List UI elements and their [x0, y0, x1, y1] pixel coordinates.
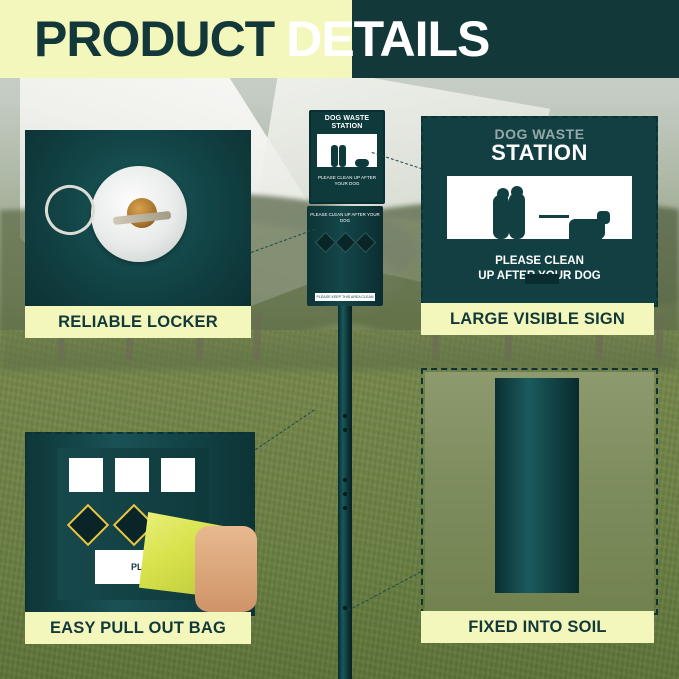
center-post: [338, 306, 352, 679]
dispenser-slot-icon: [334, 232, 355, 253]
large-sign-mount: [525, 274, 559, 284]
caption-reliable-locker: RELIABLE LOCKER: [25, 306, 251, 338]
dispenser-slot-icon: [314, 232, 335, 253]
post-in-soil: [495, 378, 579, 593]
caption-easy-pull-out-bag: EASY PULL OUT BAG: [25, 612, 251, 644]
large-sign-title-line1: DOG WASTE: [433, 126, 646, 142]
product-details-image: DOG WASTE STATION PLEASE CLEAN UP AFTER …: [0, 0, 679, 679]
center-dispenser-box: PLEASE CLEAN UP AFTER YOUR DOG PLEASE KE…: [307, 206, 383, 306]
dispenser-slot-icon: [354, 232, 375, 253]
large-sign-title-line2: STATION: [433, 140, 646, 166]
header-title-word-2: DETAILS: [286, 10, 489, 68]
dog-waste-station-product: DOG WASTE STATION PLEASE CLEAN UP AFTER …: [305, 110, 385, 679]
callout-panel-sign: DOG WASTE STATION PLEASE CLEAN UP AFTER …: [421, 116, 658, 307]
large-sign-graphic: [447, 176, 632, 248]
center-sign-subtitle: PLEASE CLEAN UP AFTER YOUR DOG: [311, 175, 383, 187]
hand: [195, 526, 257, 612]
instruction-icon-2: [115, 458, 149, 492]
instruction-icon-3: [161, 458, 195, 492]
dispenser-slot-icon: [67, 504, 109, 546]
caption-large-visible-sign: LARGE VISIBLE SIGN: [421, 303, 654, 335]
callout-panel-bag: PLEASE: [25, 432, 255, 616]
header-band: PRODUCT DETAILS: [0, 0, 679, 78]
center-sign-title: DOG WASTE STATION: [311, 115, 383, 131]
instruction-icon-1: [69, 458, 103, 492]
header-title: PRODUCT DETAILS: [0, 0, 679, 78]
callout-panel-soil: [421, 368, 658, 615]
caption-fixed-into-soil: FIXED INTO SOIL: [421, 611, 654, 643]
center-box-dispenser-slots: [307, 235, 383, 250]
center-top-sign: DOG WASTE STATION PLEASE CLEAN UP AFTER …: [309, 110, 385, 204]
center-box-label: PLEASE CLEAN UP AFTER YOUR DOG: [307, 212, 383, 223]
header-title-word-1: PRODUCT: [34, 10, 274, 68]
key-ring-icon: [38, 178, 101, 241]
callout-panel-locker: [25, 130, 251, 306]
center-sign-graphic: [317, 134, 377, 172]
large-sign: DOG WASTE STATION PLEASE CLEAN UP AFTER …: [433, 124, 646, 290]
large-sign-subtitle-line1: PLEASE CLEAN: [443, 254, 636, 269]
center-box-bottom-label: PLEASE KEEP THIS AREA CLEAN: [315, 293, 375, 301]
